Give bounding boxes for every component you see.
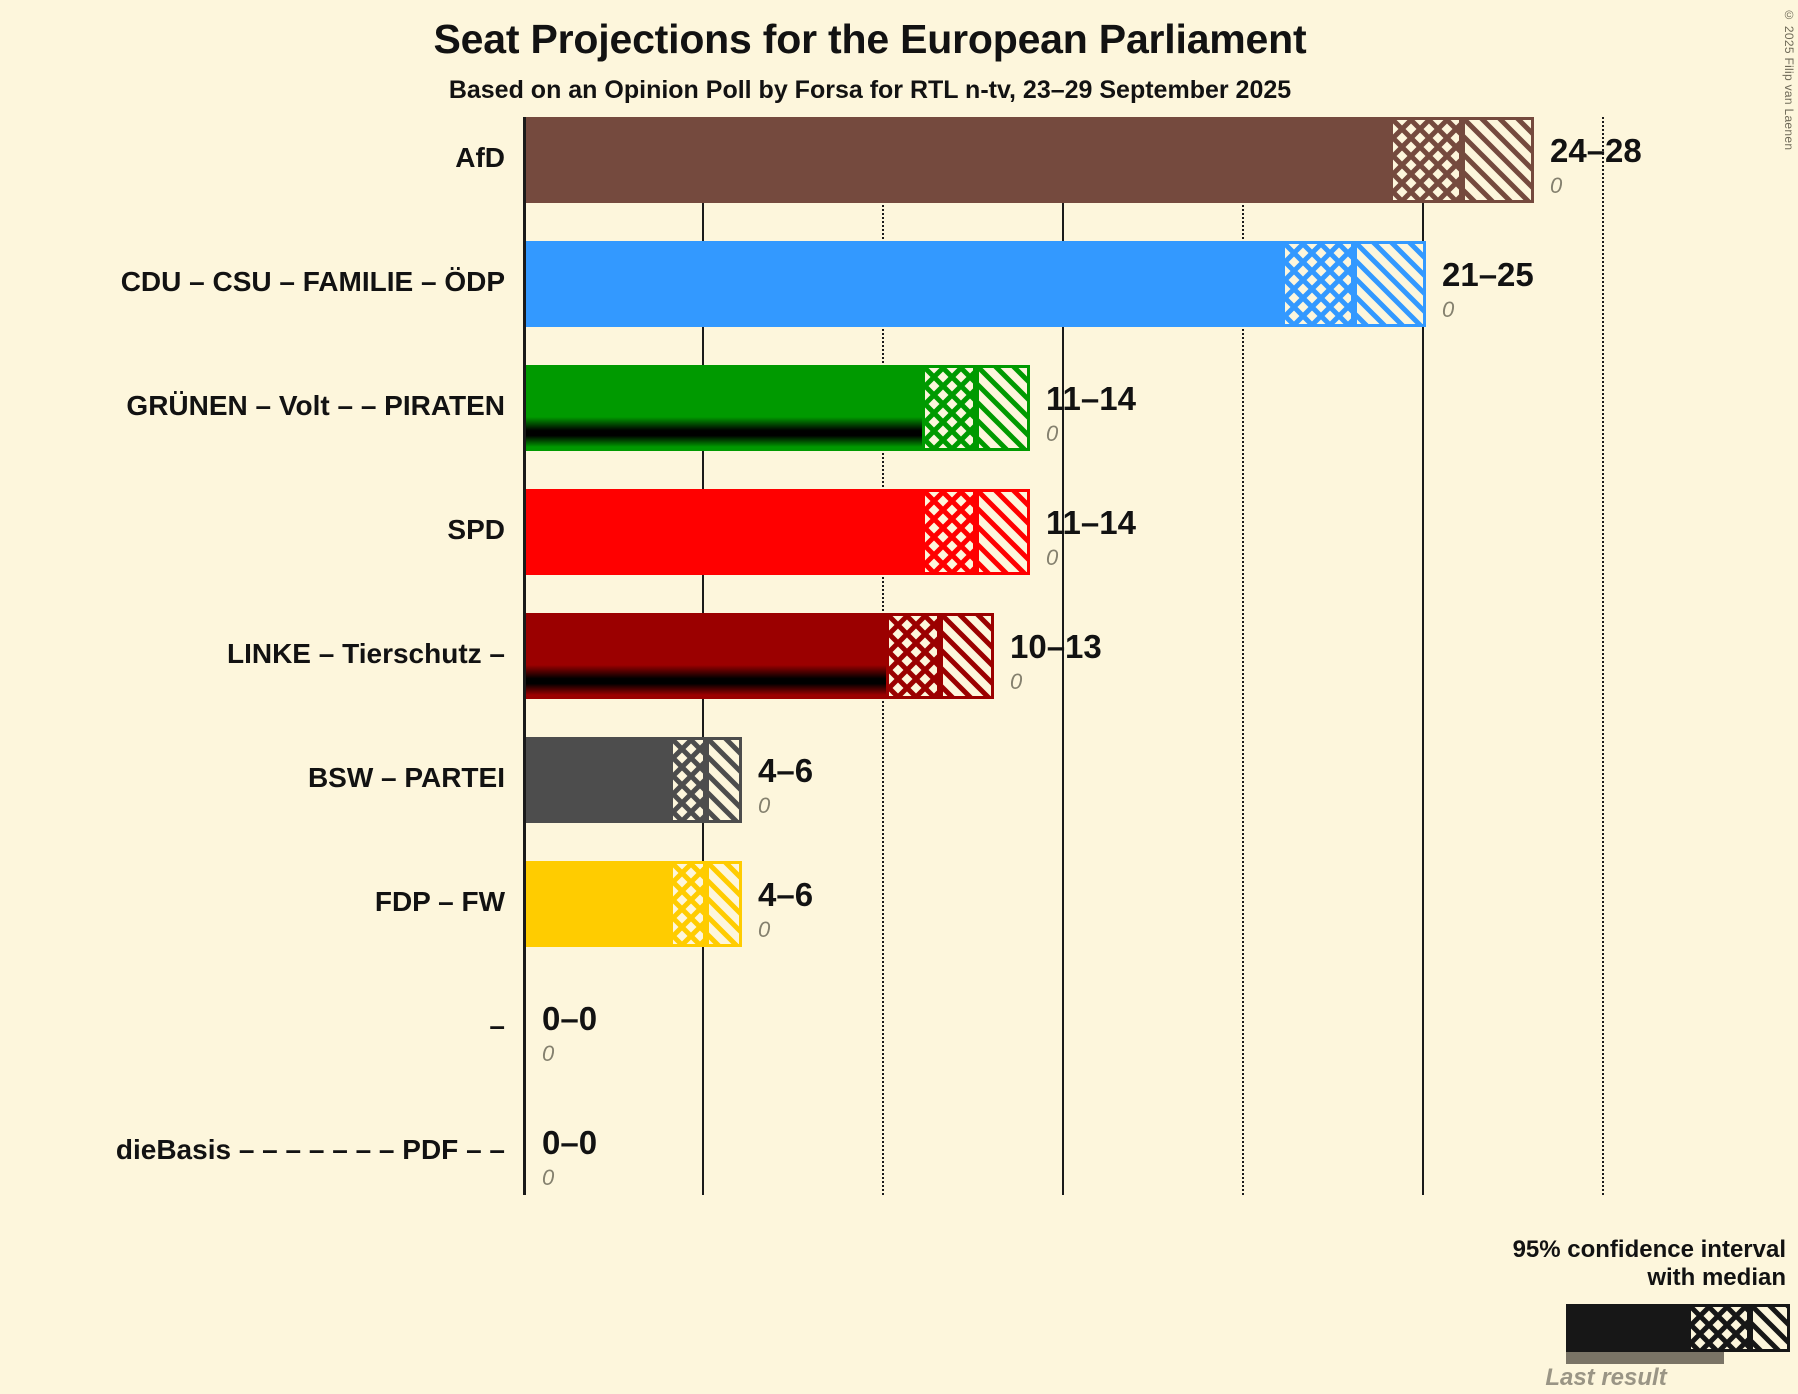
- value-annotation: 11–140: [1046, 382, 1136, 445]
- value-annotation: 4–60: [758, 754, 813, 817]
- last-result-value: 0: [1046, 547, 1136, 569]
- bar-diagonal-segment: [1354, 241, 1426, 327]
- bar-solid-segment: [526, 241, 1282, 327]
- value-annotation: 11–140: [1046, 506, 1136, 569]
- bar-diagonal-segment: [940, 613, 994, 699]
- bar-diagonal-segment: [706, 861, 742, 947]
- bar-diagonal-segment: [1462, 117, 1534, 203]
- bar-diagonal-segment: [976, 365, 1030, 451]
- bar-row: SPD11–140: [0, 489, 1798, 575]
- last-result-value: 0: [1550, 175, 1642, 197]
- seat-range-value: 11–14: [1046, 506, 1136, 539]
- seat-range-value: 11–14: [1046, 382, 1136, 415]
- party-label: SPD: [0, 514, 505, 546]
- chart-title: Seat Projections for the European Parlia…: [0, 16, 1740, 63]
- party-label: LINKE – Tierschutz –: [0, 638, 505, 670]
- value-annotation: 0–00: [542, 1126, 597, 1189]
- seat-range-value: 24–28: [1550, 134, 1642, 167]
- chart-canvas: Seat Projections for the European Parlia…: [0, 0, 1798, 1394]
- seat-range-value: 21–25: [1442, 258, 1534, 291]
- last-result-value: 0: [542, 1043, 597, 1065]
- value-annotation: 0–00: [542, 1002, 597, 1065]
- bar-row: dieBasis – – – – – – – PDF – –0–00: [0, 1109, 1798, 1195]
- legend-swatches: Last result: [1316, 1298, 1786, 1378]
- last-result-value: 0: [758, 919, 813, 941]
- bar-row: CDU – CSU – FAMILIE – ÖDP21–250: [0, 241, 1798, 327]
- chart-subtitle: Based on an Opinion Poll by Forsa for RT…: [0, 76, 1740, 105]
- bar-diagonal-segment: [706, 737, 742, 823]
- bar-crosshatch-segment: [922, 489, 976, 575]
- bar-crosshatch-segment: [1282, 241, 1354, 327]
- party-label: dieBasis – – – – – – – PDF – –: [0, 1134, 505, 1166]
- bar-crosshatch-segment: [670, 737, 706, 823]
- value-annotation: 10–130: [1010, 630, 1102, 693]
- bar-row: GRÜNEN – Volt – – PIRATEN11–140: [0, 365, 1798, 451]
- party-label: GRÜNEN – Volt – – PIRATEN: [0, 390, 505, 422]
- bar-crosshatch-segment: [1390, 117, 1462, 203]
- legend-crosshatch-segment: [1688, 1304, 1750, 1352]
- party-label: AfD: [0, 142, 505, 174]
- bar-row: –0–00: [0, 985, 1798, 1071]
- bar-crosshatch-segment: [886, 613, 940, 699]
- legend-solid-segment: [1566, 1304, 1688, 1352]
- legend-ci-line1: 95% confidence interval: [1316, 1236, 1786, 1264]
- seat-range-value: 4–6: [758, 754, 813, 787]
- last-result-value: 0: [758, 795, 813, 817]
- bar-row: FDP – FW4–60: [0, 861, 1798, 947]
- bar-crosshatch-segment: [922, 365, 976, 451]
- bar-solid-segment: [526, 489, 922, 575]
- bar-row: AfD24–280: [0, 117, 1798, 203]
- legend-last-result-bar: [1566, 1352, 1724, 1364]
- bar-median-band: [526, 665, 886, 695]
- seat-range-value: 10–13: [1010, 630, 1102, 663]
- bar-row: BSW – PARTEI4–60: [0, 737, 1798, 823]
- bar-row: LINKE – Tierschutz –10–130: [0, 613, 1798, 699]
- seat-range-value: 0–0: [542, 1126, 597, 1159]
- bar-diagonal-segment: [976, 489, 1030, 575]
- last-result-value: 0: [1442, 299, 1534, 321]
- value-annotation: 4–60: [758, 878, 813, 941]
- bar-crosshatch-segment: [670, 861, 706, 947]
- seat-range-value: 4–6: [758, 878, 813, 911]
- bar-solid-segment: [526, 737, 670, 823]
- party-label: FDP – FW: [0, 886, 505, 918]
- value-annotation: 24–280: [1550, 134, 1642, 197]
- legend-last-result-label: Last result: [1476, 1364, 1736, 1392]
- legend-ci-line2: with median: [1316, 1264, 1786, 1292]
- bar-median-band: [526, 417, 922, 447]
- seat-range-value: 0–0: [542, 1002, 597, 1035]
- party-label: CDU – CSU – FAMILIE – ÖDP: [0, 266, 505, 298]
- chart-legend: 95% confidence interval with median Last…: [1316, 1236, 1786, 1378]
- last-result-value: 0: [1010, 671, 1102, 693]
- party-label: BSW – PARTEI: [0, 762, 505, 794]
- legend-diagonal-segment: [1750, 1304, 1790, 1352]
- legend-ci-bar: [1566, 1304, 1786, 1352]
- last-result-value: 0: [542, 1167, 597, 1189]
- last-result-value: 0: [1046, 423, 1136, 445]
- value-annotation: 21–250: [1442, 258, 1534, 321]
- bar-solid-segment: [526, 117, 1390, 203]
- bar-solid-segment: [526, 861, 670, 947]
- party-label: –: [0, 1010, 505, 1042]
